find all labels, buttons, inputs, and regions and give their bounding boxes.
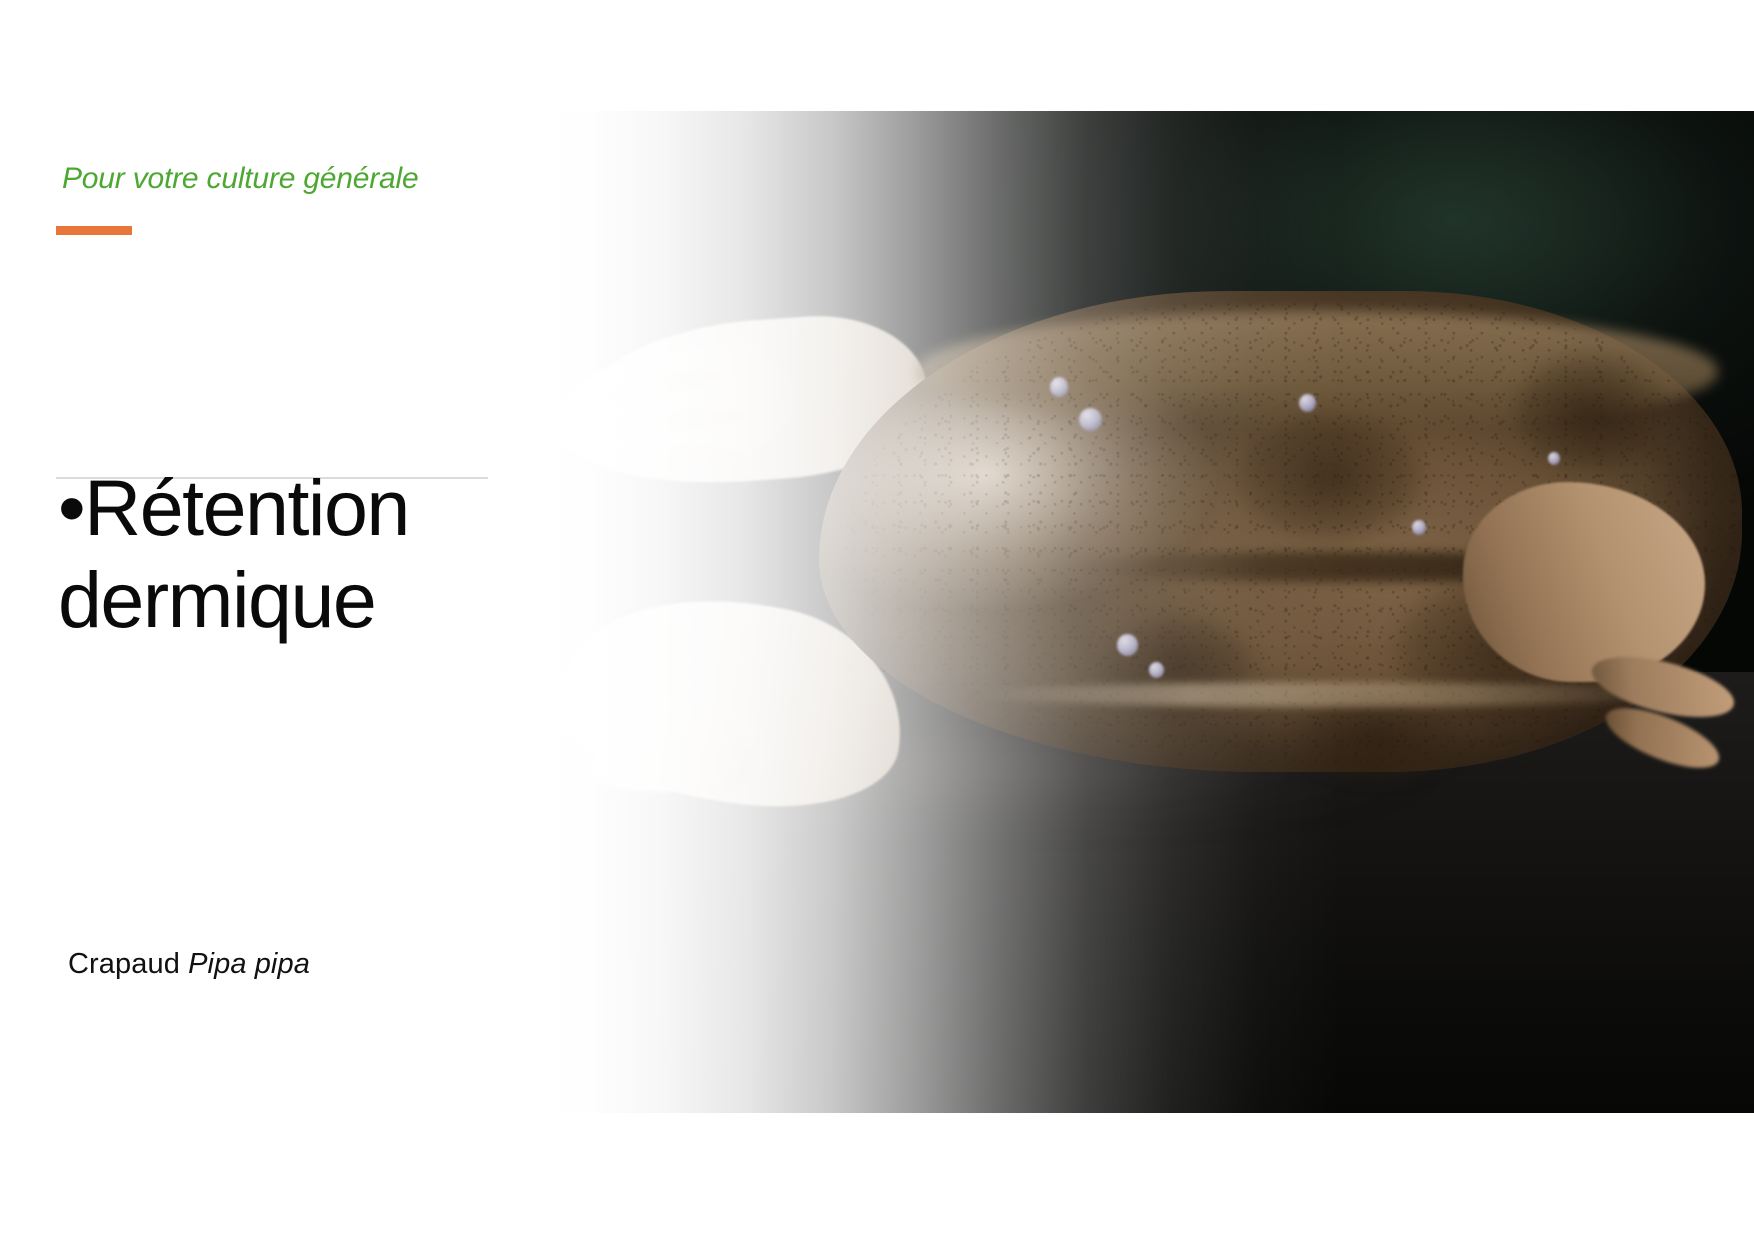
image-caption: Crapaud Pipa pipa bbox=[68, 948, 310, 981]
toad-dermal-pore bbox=[1079, 408, 1102, 431]
toad-dermal-pore bbox=[1149, 662, 1164, 678]
toad-flank-highlight bbox=[977, 682, 1681, 707]
caption-scientific-name: Pipa pipa bbox=[188, 948, 310, 980]
caption-common-name: Crapaud bbox=[68, 948, 188, 980]
photo-inner bbox=[540, 111, 1754, 1113]
accent-bar bbox=[56, 226, 132, 235]
toad-dermal-pore bbox=[1548, 452, 1560, 465]
toad-dermal-pore bbox=[1412, 520, 1427, 535]
toad-dermal-pore bbox=[1299, 394, 1316, 412]
toad-photo: https://www.nationalgeographic.fr/animau… bbox=[540, 111, 1754, 1113]
page-title: •Rétention dermique bbox=[58, 462, 508, 647]
slide-canvas: Pour votre culture générale •Rétention d… bbox=[0, 0, 1754, 1241]
toad-front-foot bbox=[589, 742, 723, 792]
eyebrow-label: Pour votre culture générale bbox=[62, 162, 418, 196]
toad-dermal-pore bbox=[1050, 377, 1068, 397]
